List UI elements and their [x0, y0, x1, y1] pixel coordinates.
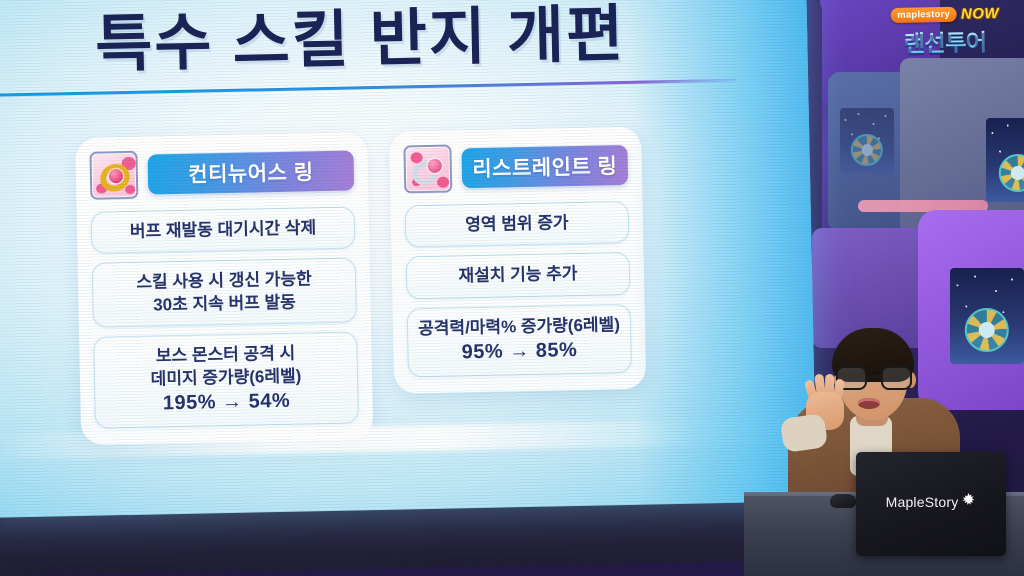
- presenter-mouth: [858, 398, 880, 409]
- event-logo-top-row: maplestory NOW: [884, 5, 1006, 24]
- feature-list: 버프 재발동 대기시간 삭제 스킬 사용 시 갱신 가능한 30초 지속 버프 …: [91, 206, 359, 428]
- now-word: NOW: [961, 5, 999, 23]
- feature-item: 재설치 기능 추가: [406, 252, 631, 299]
- glasses-lens-right: [881, 366, 912, 390]
- card-header: 리스트레인트 링: [403, 141, 628, 193]
- glasses-bridge: [867, 375, 881, 378]
- feature-line: 버프 재발동 대기시간 삭제: [102, 217, 344, 244]
- feature-line: 영역 범위 증가: [416, 211, 618, 237]
- feature-item: 스킬 사용 시 갱신 가능한 30초 지속 버프 발동: [92, 258, 357, 328]
- ring-card-restraint: 리스트레인트 링 영역 범위 증가 재설치 기능 추가 공격력/마력% 증가량(…: [389, 127, 646, 394]
- ferris-wheel-icon: [999, 154, 1024, 192]
- feature-item: 영역 범위 증가: [405, 201, 630, 248]
- event-logo-title: 랜선투어: [884, 23, 1007, 59]
- maplestory-badge: maplestory: [890, 7, 957, 23]
- feature-item: 버프 재발동 대기시간 삭제: [91, 206, 356, 254]
- card-title-restraint: 리스트레인트 링: [461, 145, 628, 188]
- feature-list: 영역 범위 증가 재설치 기능 추가 공격력/마력% 증가량(6레벨) 95% …: [405, 201, 632, 377]
- maple-leaf-icon: [961, 492, 976, 507]
- broadcast-stage-scene: 특수 스킬 반지 개편 컨티뉴어스 링: [0, 0, 1024, 576]
- ring-silver-icon: [403, 144, 452, 193]
- card-title-continuous: 컨티뉴어스 링: [147, 150, 354, 194]
- page-title: 특수 스킬 반지 개편: [94, 0, 626, 84]
- laptop-brand-label: MapleStory: [886, 494, 959, 510]
- feature-value-change: 195% → 54%: [105, 387, 347, 418]
- ring-cards-row: 컨티뉴어스 링 버프 재발동 대기시간 삭제 스킬 사용 시 갱신 가능한 30…: [75, 127, 647, 445]
- glasses-icon: [836, 366, 912, 390]
- card-header: 컨티뉴어스 링: [89, 146, 354, 199]
- laptop-logo: MapleStory: [856, 494, 1006, 510]
- led-wall-screen: 특수 스킬 반지 개편 컨티뉴어스 링: [0, 0, 817, 518]
- ring-card-continuous: 컨티뉴어스 링 버프 재발동 대기시간 삭제 스킬 사용 시 갱신 가능한 30…: [75, 132, 373, 444]
- ferris-wheel-icon: [851, 134, 883, 166]
- stage-poster-upper: [986, 118, 1024, 202]
- stage-poster-small: [840, 108, 894, 174]
- feature-item: 보스 몬스터 공격 시 데미지 증가량(6레벨) 195% → 54%: [93, 332, 359, 429]
- feature-item: 공격력/마력% 증가량(6레벨) 95% → 85%: [407, 304, 632, 377]
- ring-gold-icon: [89, 151, 138, 200]
- laptop: MapleStory: [856, 452, 1006, 556]
- computer-mouse-icon: [830, 494, 856, 508]
- feature-value-change: 95% → 85%: [418, 336, 620, 366]
- feature-line: 재설치 기능 추가: [417, 263, 619, 289]
- feature-line: 공격력/마력% 증가량(6레벨): [418, 314, 620, 340]
- event-logo: maplestory NOW 랜선투어: [884, 5, 1007, 59]
